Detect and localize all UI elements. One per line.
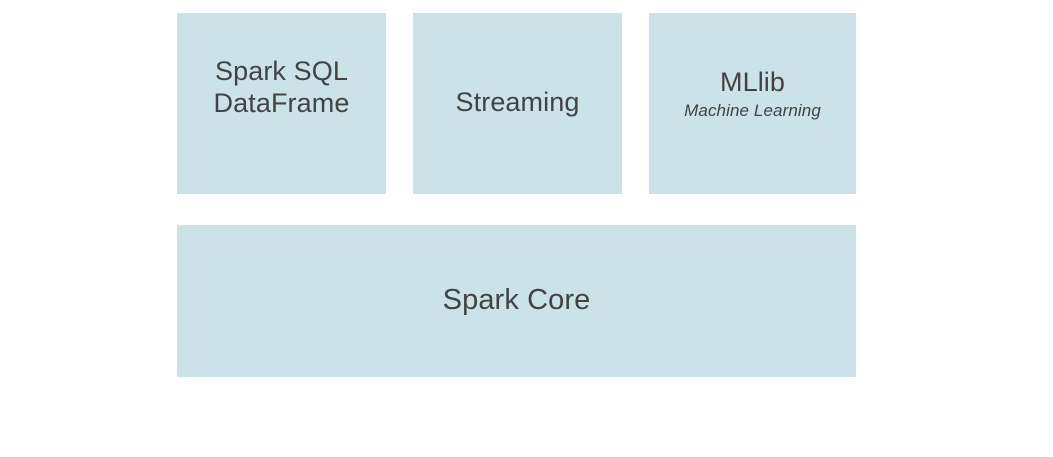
mllib-text-stack: MLlib Machine Learning: [684, 67, 821, 121]
foundation-title-spark-core: Spark Core: [443, 284, 591, 317]
component-title-mllib: MLlib: [720, 67, 785, 98]
component-subtitle-mllib: Machine Learning: [684, 101, 821, 121]
component-box-streaming[interactable]: Streaming: [413, 13, 622, 194]
spark-stack-diagram: Spark SQL DataFrame Streaming MLlib Mach…: [0, 0, 1053, 457]
component-box-spark-sql[interactable]: Spark SQL DataFrame: [177, 13, 386, 194]
component-box-mllib[interactable]: MLlib Machine Learning: [649, 13, 856, 194]
component-title-spark-sql: Spark SQL DataFrame: [214, 56, 350, 118]
foundation-box-spark-core[interactable]: Spark Core: [177, 225, 856, 377]
component-title-streaming: Streaming: [456, 87, 580, 118]
